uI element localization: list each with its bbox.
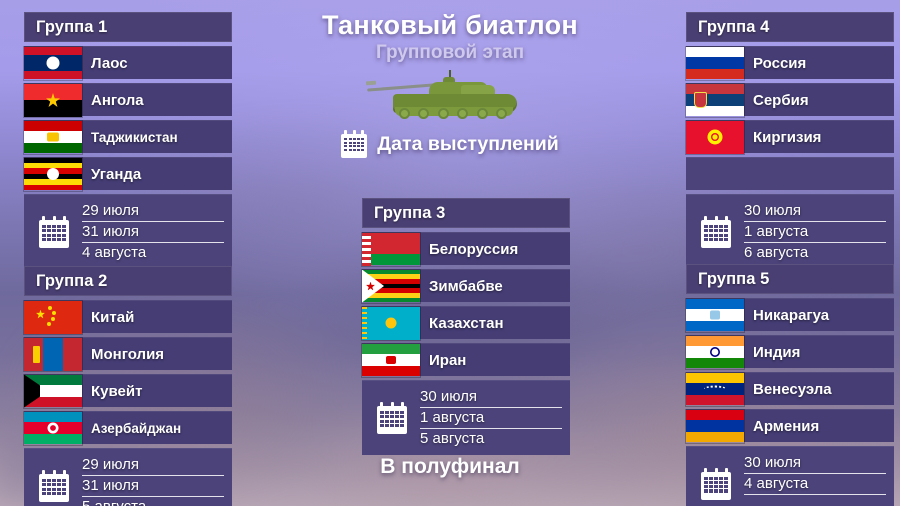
- table-row[interactable]: Монголия: [24, 337, 232, 370]
- country-name: Азербайджан: [91, 421, 181, 436]
- table-row[interactable]: Таджикистан: [24, 120, 232, 153]
- group-panel-5[interactable]: Группа 5 Никарагуа: [686, 264, 894, 506]
- table-row-empty: [686, 157, 894, 190]
- poster-canvas: Танковый биатлон Групповой этап: [0, 0, 900, 506]
- date-label-row: Дата выступлений: [240, 130, 660, 158]
- table-row[interactable]: Иран: [362, 343, 570, 376]
- table-row[interactable]: Киргизия: [686, 120, 894, 153]
- kazakhstan-flag: [362, 307, 420, 340]
- table-row[interactable]: Казахстан: [362, 306, 570, 339]
- date-line: 4 августа: [744, 474, 886, 495]
- date-label-text: Дата выступлений: [377, 133, 558, 156]
- date-line: 31 июля: [82, 222, 224, 243]
- date-line: 1 августа: [420, 408, 562, 429]
- date-line: 29 июля: [82, 455, 224, 476]
- date-line: 5 августа: [420, 429, 562, 449]
- belarus-flag: [362, 233, 420, 266]
- table-row[interactable]: Азербайджан: [24, 411, 232, 444]
- country-name: Сербия: [753, 92, 809, 109]
- india-flag: [686, 336, 744, 369]
- country-name: Ангола: [91, 92, 144, 109]
- country-name: Монголия: [91, 346, 164, 363]
- country-name: Таджикистан: [91, 130, 178, 145]
- kyrgyzstan-flag: [686, 121, 744, 154]
- country-name: Уганда: [91, 166, 141, 183]
- country-name: Китай: [91, 309, 134, 326]
- country-name: Армения: [753, 418, 819, 435]
- country-name: Кувейт: [91, 383, 142, 400]
- tank-icon: [365, 70, 535, 126]
- country-name: Никарагуа: [753, 307, 829, 324]
- table-row[interactable]: Никарагуа: [686, 298, 894, 331]
- uganda-flag: [24, 158, 82, 191]
- calendar-icon: [701, 216, 731, 248]
- armenia-flag: [686, 410, 744, 443]
- team-list-3: Белоруссия Зимбабве: [362, 232, 570, 376]
- table-row[interactable]: Индия: [686, 335, 894, 368]
- date-line: 1 августа: [744, 222, 886, 243]
- iran-flag: [362, 344, 420, 377]
- group-title-1: Группа 1: [24, 12, 232, 42]
- zimbabwe-flag: [362, 270, 420, 303]
- group-title-4: Группа 4: [686, 12, 894, 42]
- group-title-2: Группа 2: [24, 266, 232, 296]
- russia-flag: [686, 47, 744, 80]
- table-row[interactable]: Зимбабве: [362, 269, 570, 302]
- group-panel-4[interactable]: Группа 4 Россия: [686, 12, 894, 269]
- date-panel-2: 29 июля 31 июля 5 августа: [24, 448, 232, 506]
- team-list-1: Лаос Ангола: [24, 46, 232, 190]
- country-name: Венесуэла: [753, 381, 832, 398]
- serbia-flag: [686, 84, 744, 117]
- calendar-icon: [39, 216, 69, 248]
- angola-flag: [24, 84, 82, 117]
- page-subtitle: Групповой этап: [240, 42, 660, 64]
- table-row[interactable]: Армения: [686, 409, 894, 442]
- date-line: 30 июля: [744, 201, 886, 222]
- mongolia-flag: [24, 338, 82, 371]
- group-panel-1[interactable]: Группа 1 Лаос: [24, 12, 232, 269]
- date-panel-1: 29 июля 31 июля 4 августа: [24, 194, 232, 269]
- kuwait-flag: [24, 375, 82, 408]
- group-panel-2[interactable]: Группа 2 Китай: [24, 266, 232, 506]
- calendar-icon: [701, 468, 731, 500]
- date-panel-4: 30 июля 1 августа 6 августа: [686, 194, 894, 269]
- date-line: 31 июля: [82, 476, 224, 497]
- date-line: 30 июля: [420, 387, 562, 408]
- table-row[interactable]: Белоруссия: [362, 232, 570, 265]
- country-name: Лаос: [91, 55, 128, 72]
- laos-flag: [24, 47, 82, 80]
- team-list-5: Никарагуа Индия: [686, 298, 894, 442]
- venezuela-flag: [686, 373, 744, 406]
- table-row[interactable]: Ангола: [24, 83, 232, 116]
- date-line: 4 августа: [82, 243, 224, 263]
- table-row[interactable]: Венесуэла: [686, 372, 894, 405]
- team-list-4: Россия Сербия: [686, 46, 894, 190]
- table-row[interactable]: Лаос: [24, 46, 232, 79]
- date-panel-5: 30 июля 4 августа: [686, 446, 894, 506]
- calendar-icon: [341, 130, 367, 158]
- group-title-3: Группа 3: [362, 198, 570, 228]
- country-name: Индия: [753, 344, 800, 361]
- date-line: 5 августа: [82, 497, 224, 506]
- footer: В полуфинал: [240, 455, 660, 479]
- table-row[interactable]: Россия: [686, 46, 894, 79]
- country-name: Иран: [429, 352, 466, 369]
- table-row[interactable]: Китай: [24, 300, 232, 333]
- date-line: 29 июля: [82, 201, 224, 222]
- calendar-icon: [39, 470, 69, 502]
- date-panel-3: 30 июля 1 августа 5 августа: [362, 380, 570, 455]
- country-name: Россия: [753, 55, 806, 72]
- table-row[interactable]: Сербия: [686, 83, 894, 116]
- country-name: Киргизия: [753, 129, 821, 146]
- country-name: Казахстан: [429, 315, 504, 332]
- date-line: [744, 495, 886, 506]
- calendar-icon: [377, 402, 407, 434]
- page-title: Танковый биатлон: [240, 10, 660, 41]
- date-line: 30 июля: [744, 453, 886, 474]
- poster-header: Танковый биатлон Групповой этап: [240, 10, 660, 158]
- team-list-2: Китай Монголия: [24, 300, 232, 444]
- country-name: Белоруссия: [429, 241, 518, 258]
- country-name: Зимбабве: [429, 278, 503, 295]
- table-row[interactable]: Уганда: [24, 157, 232, 190]
- nicaragua-flag: [686, 299, 744, 332]
- group-panel-3[interactable]: Группа 3 Белоруссия: [362, 198, 570, 455]
- date-line: 6 августа: [744, 243, 886, 263]
- tajikistan-flag: [24, 121, 82, 154]
- china-flag: [24, 301, 82, 334]
- footer-text: В полуфинал: [240, 455, 660, 479]
- group-title-5: Группа 5: [686, 264, 894, 294]
- azerbaijan-flag: [24, 412, 82, 445]
- table-row[interactable]: Кувейт: [24, 374, 232, 407]
